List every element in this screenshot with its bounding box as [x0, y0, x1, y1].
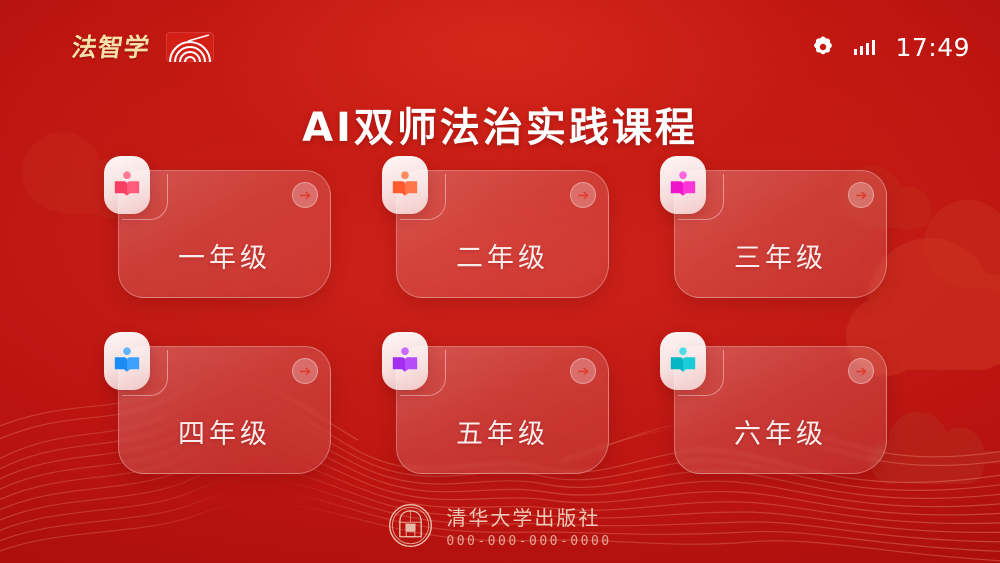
book-reader-icon-tile — [104, 156, 150, 214]
grade-card-label: 一年级 — [118, 236, 331, 275]
arch-waves-emblem — [166, 32, 214, 62]
page-title: AI双师法治实践课程 — [0, 95, 1000, 153]
status-area: 17:49 — [812, 33, 970, 62]
top-bar: 法智学 — [0, 0, 1000, 94]
grade-card-3[interactable]: 三年级 — [674, 170, 887, 298]
grade-card-label: 五年级 — [396, 412, 609, 451]
grade-card-2[interactable]: 二年级 — [396, 170, 609, 298]
clock: 17:49 — [895, 33, 970, 62]
card-arrow-button[interactable] — [292, 182, 318, 208]
arrow-right-icon — [298, 364, 313, 379]
book-reader-icon-tile — [104, 332, 150, 390]
brand-wordmark: 法智学 — [70, 35, 152, 60]
card-arrow-button[interactable] — [570, 182, 596, 208]
brand-logo[interactable]: 法智学 — [72, 32, 214, 62]
card-arrow-button[interactable] — [570, 358, 596, 384]
signal-strength-icon — [854, 39, 876, 55]
book-reader-icon — [390, 346, 420, 376]
grade-card-grid: 一年级 二年级 — [118, 170, 888, 474]
arrow-right-icon — [576, 188, 591, 203]
arrow-right-icon — [298, 188, 313, 203]
publisher-footer: 清华大学出版社 000-000-000-0000 — [0, 502, 1000, 549]
arrow-right-icon — [854, 188, 869, 203]
book-reader-icon-tile — [660, 332, 706, 390]
grade-card-label: 二年级 — [396, 236, 609, 275]
grade-card-label: 六年级 — [674, 412, 887, 451]
grade-card-label: 三年级 — [674, 236, 887, 275]
arrow-right-icon — [576, 364, 591, 379]
card-arrow-button[interactable] — [848, 182, 874, 208]
book-reader-icon — [112, 170, 142, 200]
book-reader-icon — [390, 170, 420, 200]
grade-card-4[interactable]: 四年级 — [118, 346, 331, 474]
card-arrow-button[interactable] — [292, 358, 318, 384]
card-arrow-button[interactable] — [848, 358, 874, 384]
book-reader-icon — [112, 346, 142, 376]
publisher-phone: 000-000-000-0000 — [446, 534, 611, 549]
book-reader-icon — [668, 170, 698, 200]
book-reader-icon — [668, 346, 698, 376]
publisher-text-block: 清华大学出版社 000-000-000-0000 — [446, 502, 611, 549]
grade-card-6[interactable]: 六年级 — [674, 346, 887, 474]
grade-card-5[interactable]: 五年级 — [396, 346, 609, 474]
tsinghua-press-seal-icon — [388, 503, 433, 548]
grade-card-1[interactable]: 一年级 — [118, 170, 331, 298]
publisher-name: 清华大学出版社 — [446, 502, 611, 531]
gear-icon[interactable] — [812, 36, 834, 58]
book-reader-icon-tile — [660, 156, 706, 214]
book-reader-icon-tile — [382, 332, 428, 390]
arrow-right-icon — [854, 364, 869, 379]
grade-card-label: 四年级 — [118, 412, 331, 451]
app-root: 法智学 — [0, 0, 1000, 563]
book-reader-icon-tile — [382, 156, 428, 214]
